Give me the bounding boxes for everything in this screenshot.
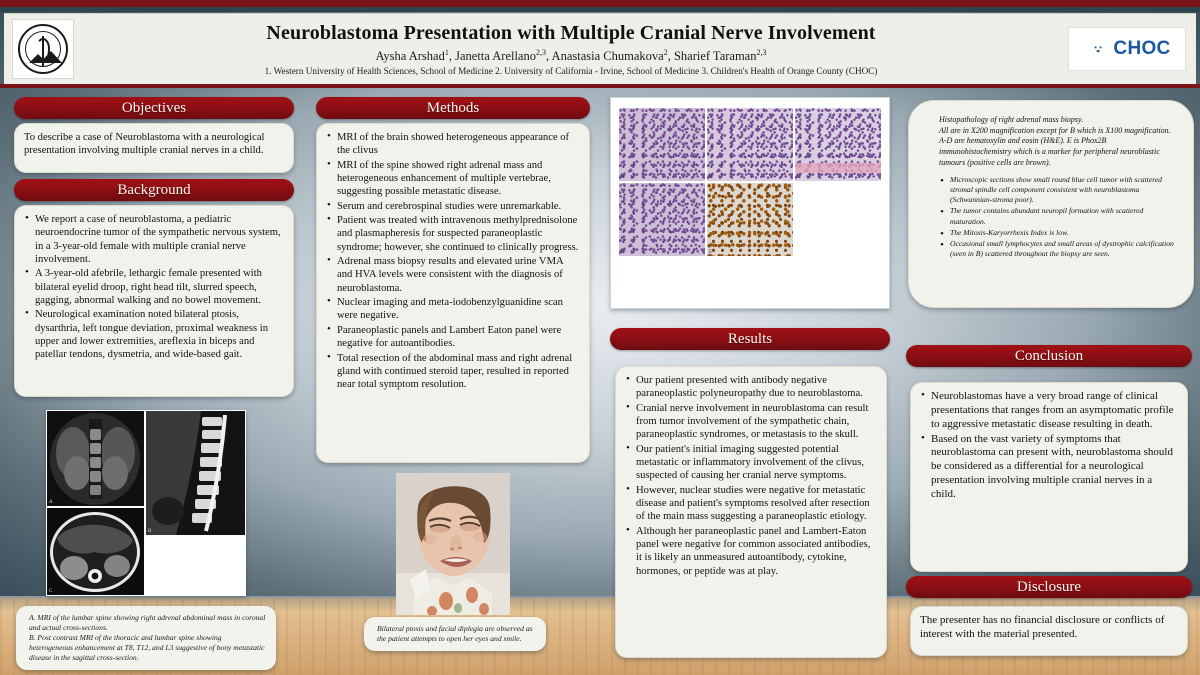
top-accent-bar-slate <box>0 7 1200 12</box>
card-conclusion: Neuroblastomas have a very broad range o… <box>910 382 1188 572</box>
section-header-disclosure: Disclosure <box>906 576 1192 598</box>
list-item: MRI of the spine showed right adrenal ma… <box>326 159 580 199</box>
mri-empty-cell <box>146 537 245 595</box>
list-item: Although her paraneoplastic panel and La… <box>625 525 877 578</box>
histology-intro-line: A-D are hematoxylin and eosin (H&E). E i… <box>939 136 1179 168</box>
histology-label-b: B <box>709 175 712 180</box>
conclusion-bullet-list: Neuroblastomas have a very broad range o… <box>920 390 1178 502</box>
list-item: Our patient presented with antibody nega… <box>625 374 877 401</box>
histology-label-c: C <box>797 175 800 180</box>
list-item: We report a case of neuroblastoma, a ped… <box>24 213 284 266</box>
histology-panel-d: D <box>619 183 705 256</box>
patient-photo-caption: Bilateral ptosis and facial diplegia are… <box>364 617 546 651</box>
histology-image-panel: A B C D E <box>610 97 890 309</box>
section-header-objectives: Objectives <box>14 97 294 119</box>
choc-wordmark: CHOC <box>1113 38 1170 60</box>
list-item: Our patient's initial imaging suggested … <box>625 443 877 483</box>
section-header-background: Background <box>14 179 294 201</box>
list-item: Nuclear imaging and meta-iodobenzylguani… <box>326 296 580 323</box>
histology-panel-c: C <box>795 108 881 181</box>
objectives-text: To describe a case of Neuroblastoma with… <box>24 131 284 158</box>
histology-panel-b: B <box>707 108 793 181</box>
histology-bullet-list: Microscopic sections show small round bl… <box>939 175 1179 259</box>
card-disclosure: The presenter has no financial disclosur… <box>910 606 1188 656</box>
list-item: Adrenal mass biopsy results and elevated… <box>326 255 580 295</box>
list-item: Based on the vast variety of symptoms th… <box>920 433 1178 502</box>
card-results: Our patient presented with antibody nega… <box>615 366 887 658</box>
results-bullet-list: Our patient presented with antibody nega… <box>625 374 877 578</box>
list-item: The tumor contains abundant neuropil for… <box>939 206 1179 226</box>
list-item: However, nuclear studies were negative f… <box>625 484 877 524</box>
mri-sagittal-spine: B <box>146 411 245 535</box>
background-bullet-list: We report a case of neuroblastoma, a ped… <box>24 213 284 362</box>
choc-logo: CHOC <box>1068 27 1186 71</box>
mri-panel-label-c: C <box>49 589 52 594</box>
disclosure-text: The presenter has no financial disclosur… <box>920 614 1178 642</box>
list-item: Paraneoplastic panels and Lambert Eaton … <box>326 324 580 351</box>
list-item: Cranial nerve involvement in neuroblasto… <box>625 402 877 442</box>
list-item: Neuroblastomas have a very broad range o… <box>920 390 1178 432</box>
list-item: The Mitosis-Karyorrhexis Index is low. <box>939 228 1179 238</box>
histology-panel-a: A <box>619 108 705 181</box>
mri-coronal-abdomen: A <box>47 411 144 506</box>
list-item: Neurological examination noted bilateral… <box>24 308 284 361</box>
mri-panel-label-b: B <box>148 529 151 534</box>
histology-grid: A B C D E <box>619 108 881 256</box>
card-methods: MRI of the brain showed heterogeneous ap… <box>316 123 590 463</box>
list-item: Total resection of the abdominal mass an… <box>326 352 580 392</box>
top-accent-bar-red <box>0 0 1200 7</box>
affiliation-list: 1. Western University of Health Sciences… <box>80 66 1062 76</box>
histology-label-d: D <box>621 250 625 255</box>
histology-panel-e: E <box>707 183 793 256</box>
histology-label-e: E <box>709 250 712 255</box>
patient-photo-caption-text: Bilateral ptosis and facial diplegia are… <box>377 624 533 643</box>
card-objectives: To describe a case of Neuroblastoma with… <box>14 123 294 173</box>
histology-panel-empty <box>795 183 881 256</box>
mri-axial-abdomen: C <box>47 508 144 595</box>
list-item: A 3-year-old afebrile, lethargic female … <box>24 267 284 307</box>
author-list: Aysha Arshad1, Janetta Arellano2,3, Anas… <box>80 48 1062 64</box>
list-item: Microscopic sections show small round bl… <box>939 175 1179 205</box>
card-histology-notes: Histopathology of right adrenal mass bio… <box>908 100 1194 308</box>
list-item: MRI of the brain showed heterogeneous ap… <box>326 131 580 158</box>
histology-label-a: A <box>621 175 625 180</box>
title-block: Neuroblastoma Presentation with Multiple… <box>74 22 1068 76</box>
header-underline <box>0 84 1200 88</box>
list-item: Patient was treated with intravenous met… <box>326 214 580 254</box>
western-university-logo <box>12 19 74 79</box>
list-item: Serum and cerebrospinal studies were unr… <box>326 200 580 213</box>
poster-canvas: Neuroblastoma Presentation with Multiple… <box>0 0 1200 675</box>
section-header-results: Results <box>610 328 890 350</box>
mri-image-panel: A <box>46 410 246 596</box>
histology-intro: Histopathology of right adrenal mass bio… <box>939 115 1179 168</box>
methods-bullet-list: MRI of the brain showed heterogeneous ap… <box>326 131 580 392</box>
list-item: Occasional small lymphocytes and small a… <box>939 239 1179 259</box>
section-header-conclusion: Conclusion <box>906 345 1192 367</box>
patient-photo <box>396 473 510 615</box>
mri-caption-text: A. MRI of the lumbar spine showing right… <box>29 613 265 662</box>
section-header-methods: Methods <box>316 97 590 119</box>
histology-intro-line: All are in X200 magnification except for… <box>939 126 1179 137</box>
university-seal-icon <box>18 24 68 74</box>
histology-intro-line: Histopathology of right adrenal mass bio… <box>939 115 1179 126</box>
mri-caption: A. MRI of the lumbar spine showing right… <box>16 606 276 670</box>
mri-panel-label-a: A <box>49 500 53 505</box>
page-title: Neuroblastoma Presentation with Multiple… <box>80 22 1062 45</box>
card-background: We report a case of neuroblastoma, a ped… <box>14 205 294 397</box>
poster-header: Neuroblastoma Presentation with Multiple… <box>4 13 1196 84</box>
choc-bear-moon-icon <box>1083 36 1109 62</box>
